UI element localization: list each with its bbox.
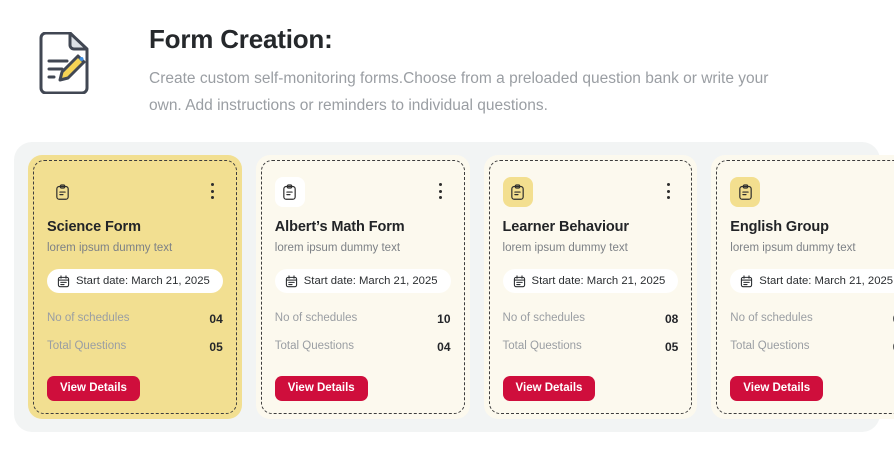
stat-label: Total Questions	[275, 341, 354, 353]
form-card[interactable]: Albert’s Math Form lorem ipsum dummy tex…	[256, 155, 470, 419]
stat-row: No of schedules 08	[503, 309, 679, 329]
stat-row: Total Questions 05	[503, 337, 679, 357]
form-cards-list: Science Form lorem ipsum dummy text Star…	[28, 155, 866, 419]
card-header-row	[730, 177, 894, 207]
stat-value: 05	[209, 341, 222, 353]
form-card[interactable]: English Group lorem ipsum dummy text Sta…	[711, 155, 894, 419]
forms-panel: Science Form lorem ipsum dummy text Star…	[14, 142, 880, 432]
stat-label: No of schedules	[47, 313, 129, 325]
stat-label: Total Questions	[503, 341, 582, 353]
card-title: Albert’s Math Form	[275, 219, 451, 236]
card-subtitle: lorem ipsum dummy text	[47, 242, 223, 256]
start-date-pill: Start date: March 21, 2025	[503, 269, 679, 293]
header-text-block: Form Creation: Create custom self-monito…	[149, 26, 894, 120]
stat-value: 05	[665, 341, 678, 353]
form-card[interactable]: Science Form lorem ipsum dummy text Star…	[28, 155, 242, 419]
stat-row: No of schedules 06	[730, 309, 894, 329]
stat-row: No of schedules 04	[47, 309, 223, 329]
card-header-row	[503, 177, 679, 207]
view-details-button[interactable]: View Details	[503, 376, 596, 401]
stat-label: No of schedules	[730, 313, 812, 325]
stat-value: 10	[437, 313, 450, 325]
form-creation-page: Form Creation: Create custom self-monito…	[0, 0, 894, 452]
kebab-menu-icon[interactable]	[887, 180, 894, 202]
clipboard-icon	[503, 177, 533, 207]
stat-label: No of schedules	[503, 313, 585, 325]
card-stats: No of schedules 10 Total Questions 04	[275, 309, 451, 365]
page-subtitle: Create custom self-monitoring forms.Choo…	[149, 65, 799, 119]
start-date-label: Start date: March 21, 2025	[759, 276, 893, 287]
stat-row: Total Questions 04	[275, 337, 451, 357]
card-title: Science Form	[47, 219, 223, 236]
document-pencil-icon	[34, 32, 94, 94]
page-header: Form Creation: Create custom self-monito…	[0, 0, 894, 132]
card-stats: No of schedules 06 Total Questions 04	[730, 309, 894, 365]
start-date-pill: Start date: March 21, 2025	[47, 269, 223, 293]
start-date-pill: Start date: March 21, 2025	[275, 269, 451, 293]
card-header-row	[47, 177, 223, 207]
view-details-button[interactable]: View Details	[275, 376, 368, 401]
form-card[interactable]: Learner Behaviour lorem ipsum dummy text…	[484, 155, 698, 419]
view-details-button[interactable]: View Details	[47, 376, 140, 401]
clipboard-icon	[47, 177, 77, 207]
page-title: Form Creation:	[149, 26, 894, 53]
clipboard-icon	[730, 177, 760, 207]
card-subtitle: lorem ipsum dummy text	[730, 242, 894, 256]
start-date-label: Start date: March 21, 2025	[304, 276, 438, 287]
stat-value: 04	[437, 341, 450, 353]
card-subtitle: lorem ipsum dummy text	[275, 242, 451, 256]
card-stats: No of schedules 04 Total Questions 05	[47, 309, 223, 365]
start-date-label: Start date: March 21, 2025	[76, 276, 210, 287]
card-title: Learner Behaviour	[503, 219, 679, 236]
start-date-label: Start date: March 21, 2025	[532, 276, 666, 287]
card-header-row	[275, 177, 451, 207]
stat-row: Total Questions 04	[730, 337, 894, 357]
kebab-menu-icon[interactable]	[659, 180, 677, 202]
clipboard-icon	[275, 177, 305, 207]
start-date-pill: Start date: March 21, 2025	[730, 269, 894, 293]
kebab-menu-icon[interactable]	[204, 180, 222, 202]
stat-label: Total Questions	[730, 341, 809, 353]
stat-label: No of schedules	[275, 313, 357, 325]
stat-row: Total Questions 05	[47, 337, 223, 357]
card-stats: No of schedules 08 Total Questions 05	[503, 309, 679, 365]
stat-value: 04	[209, 313, 222, 325]
view-details-button[interactable]: View Details	[730, 376, 823, 401]
stat-label: Total Questions	[47, 341, 126, 353]
stat-value: 08	[665, 313, 678, 325]
card-subtitle: lorem ipsum dummy text	[503, 242, 679, 256]
card-title: English Group	[730, 219, 894, 236]
stat-row: No of schedules 10	[275, 309, 451, 329]
kebab-menu-icon[interactable]	[432, 180, 450, 202]
